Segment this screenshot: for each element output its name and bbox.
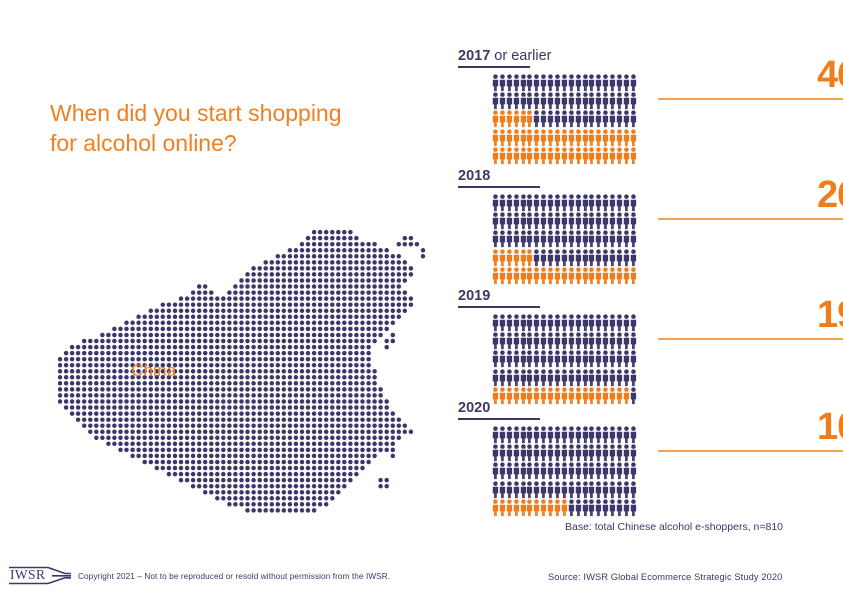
person-icon bbox=[540, 369, 547, 387]
person-icon bbox=[520, 332, 527, 350]
person-icon bbox=[540, 314, 547, 332]
person-icon-cell bbox=[588, 212, 595, 230]
person-icon bbox=[492, 499, 499, 517]
person-icon bbox=[526, 110, 533, 128]
percentage-underline bbox=[658, 218, 843, 220]
person-icon bbox=[540, 481, 547, 499]
person-icon bbox=[499, 426, 506, 444]
person-icon-cell bbox=[582, 462, 589, 480]
person-icon-cell bbox=[602, 481, 609, 499]
person-icon-cell bbox=[582, 110, 589, 128]
person-icon-cell bbox=[547, 267, 554, 285]
person-icon bbox=[499, 462, 506, 480]
person-icon bbox=[595, 194, 602, 212]
person-icon bbox=[588, 314, 595, 332]
person-icon bbox=[568, 230, 575, 248]
person-icon-cell bbox=[630, 350, 637, 368]
person-icon bbox=[595, 230, 602, 248]
person-icon bbox=[561, 92, 568, 110]
person-icon-cell bbox=[602, 267, 609, 285]
person-icon-cell bbox=[520, 426, 527, 444]
person-icon-cell bbox=[513, 92, 520, 110]
person-icon-cell bbox=[582, 212, 589, 230]
svg-text:IWSR: IWSR bbox=[10, 567, 45, 582]
person-icon bbox=[602, 499, 609, 517]
person-icon-cell bbox=[588, 332, 595, 350]
person-icon bbox=[582, 92, 589, 110]
person-icon bbox=[575, 481, 582, 499]
person-icon-cell bbox=[561, 350, 568, 368]
person-icon bbox=[561, 332, 568, 350]
person-icon bbox=[499, 194, 506, 212]
person-icon bbox=[526, 129, 533, 147]
person-icon-cell bbox=[520, 147, 527, 165]
person-icon-cell bbox=[506, 444, 513, 462]
person-icon-cell bbox=[492, 369, 499, 387]
person-icon-cell bbox=[540, 481, 547, 499]
person-icon bbox=[533, 212, 540, 230]
person-icon bbox=[616, 267, 623, 285]
person-icon bbox=[588, 481, 595, 499]
person-icon-cell bbox=[561, 230, 568, 248]
person-icon bbox=[554, 129, 561, 147]
person-icon bbox=[547, 92, 554, 110]
person-icon-cell bbox=[492, 212, 499, 230]
person-icon-cell bbox=[540, 194, 547, 212]
person-icon bbox=[533, 462, 540, 480]
person-icon-cell bbox=[533, 481, 540, 499]
person-icon bbox=[540, 92, 547, 110]
person-icon bbox=[492, 212, 499, 230]
person-icon bbox=[595, 481, 602, 499]
person-icon-cell bbox=[602, 74, 609, 92]
pictogram-grid bbox=[492, 74, 637, 165]
person-icon-cell bbox=[499, 230, 506, 248]
person-icon bbox=[492, 194, 499, 212]
person-icon-cell bbox=[492, 332, 499, 350]
person-icon bbox=[520, 230, 527, 248]
person-icon bbox=[526, 350, 533, 368]
person-icon-cell bbox=[547, 350, 554, 368]
person-icon-cell bbox=[526, 481, 533, 499]
person-icon bbox=[630, 499, 637, 517]
person-icon bbox=[492, 267, 499, 285]
person-icon-cell bbox=[492, 481, 499, 499]
person-icon-cell bbox=[533, 444, 540, 462]
person-icon-cell bbox=[533, 147, 540, 165]
person-icon bbox=[520, 74, 527, 92]
person-icon bbox=[526, 194, 533, 212]
person-icon-cell bbox=[499, 194, 506, 212]
person-icon-cell bbox=[568, 147, 575, 165]
person-icon bbox=[623, 350, 630, 368]
percentage-underline bbox=[658, 338, 843, 340]
person-icon-cell bbox=[513, 481, 520, 499]
person-icon-cell bbox=[609, 110, 616, 128]
person-icon-cell bbox=[533, 194, 540, 212]
person-icon-cell bbox=[520, 481, 527, 499]
person-icon bbox=[561, 230, 568, 248]
person-icon-cell bbox=[540, 129, 547, 147]
person-icon-cell bbox=[575, 426, 582, 444]
person-icon bbox=[568, 314, 575, 332]
person-icon-cell bbox=[561, 369, 568, 387]
person-icon bbox=[540, 332, 547, 350]
person-icon-cell bbox=[575, 332, 582, 350]
person-icon-cell bbox=[513, 426, 520, 444]
person-icon bbox=[623, 314, 630, 332]
person-icon-cell bbox=[492, 462, 499, 480]
person-icon-cell bbox=[609, 147, 616, 165]
pictogram-row bbox=[492, 74, 637, 92]
person-icon-cell bbox=[499, 129, 506, 147]
person-icon bbox=[609, 249, 616, 267]
person-icon bbox=[595, 369, 602, 387]
person-icon bbox=[526, 444, 533, 462]
person-icon bbox=[554, 194, 561, 212]
person-icon-cell bbox=[513, 462, 520, 480]
person-icon bbox=[623, 92, 630, 110]
person-icon-cell bbox=[492, 92, 499, 110]
person-icon bbox=[554, 92, 561, 110]
person-icon-cell bbox=[616, 444, 623, 462]
person-icon-cell bbox=[520, 74, 527, 92]
person-icon bbox=[533, 74, 540, 92]
person-icon-cell bbox=[588, 444, 595, 462]
person-icon-cell bbox=[582, 332, 589, 350]
person-icon-cell bbox=[520, 332, 527, 350]
person-icon-cell bbox=[547, 110, 554, 128]
person-icon-cell bbox=[588, 129, 595, 147]
person-icon-cell bbox=[540, 147, 547, 165]
person-icon bbox=[568, 147, 575, 165]
person-icon bbox=[616, 129, 623, 147]
person-icon bbox=[609, 369, 616, 387]
person-icon-cell bbox=[623, 462, 630, 480]
person-icon bbox=[623, 230, 630, 248]
person-icon-cell bbox=[547, 194, 554, 212]
person-icon bbox=[602, 212, 609, 230]
person-icon bbox=[623, 110, 630, 128]
person-icon bbox=[506, 350, 513, 368]
person-icon bbox=[561, 129, 568, 147]
person-icon bbox=[575, 230, 582, 248]
person-icon bbox=[575, 194, 582, 212]
person-icon bbox=[595, 147, 602, 165]
person-icon bbox=[616, 194, 623, 212]
year-value: 2017 bbox=[458, 48, 490, 64]
person-icon bbox=[506, 481, 513, 499]
person-icon bbox=[540, 267, 547, 285]
person-icon bbox=[499, 74, 506, 92]
person-icon bbox=[506, 74, 513, 92]
pictogram-row bbox=[492, 481, 637, 499]
person-icon bbox=[561, 249, 568, 267]
iwsr-logo-mark: IWSR bbox=[8, 562, 72, 590]
person-icon-cell bbox=[533, 74, 540, 92]
person-icon-cell bbox=[540, 314, 547, 332]
person-icon-cell bbox=[513, 350, 520, 368]
person-icon-cell bbox=[630, 92, 637, 110]
person-icon bbox=[588, 267, 595, 285]
person-icon bbox=[595, 462, 602, 480]
person-icon bbox=[540, 147, 547, 165]
person-icon-cell bbox=[582, 314, 589, 332]
year-underline bbox=[458, 66, 530, 68]
person-icon-cell bbox=[554, 129, 561, 147]
person-icon bbox=[588, 147, 595, 165]
person-icon-cell bbox=[554, 267, 561, 285]
person-icon bbox=[588, 129, 595, 147]
person-icon-cell bbox=[616, 249, 623, 267]
person-icon bbox=[554, 332, 561, 350]
person-icon bbox=[575, 444, 582, 462]
person-icon-cell bbox=[616, 267, 623, 285]
person-icon bbox=[561, 267, 568, 285]
person-icon-cell bbox=[547, 426, 554, 444]
person-icon-cell bbox=[609, 249, 616, 267]
person-icon bbox=[582, 481, 589, 499]
person-icon-cell bbox=[609, 129, 616, 147]
person-icon bbox=[595, 444, 602, 462]
person-icon-cell bbox=[547, 314, 554, 332]
person-icon-cell bbox=[526, 369, 533, 387]
person-icon bbox=[609, 481, 616, 499]
person-icon bbox=[499, 332, 506, 350]
person-icon-cell bbox=[616, 212, 623, 230]
person-icon-cell bbox=[609, 499, 616, 517]
person-icon-cell bbox=[561, 462, 568, 480]
person-icon bbox=[616, 426, 623, 444]
person-icon bbox=[499, 110, 506, 128]
pictogram-row bbox=[492, 426, 637, 444]
person-icon bbox=[506, 147, 513, 165]
person-icon bbox=[623, 267, 630, 285]
person-icon bbox=[540, 462, 547, 480]
person-icon bbox=[499, 92, 506, 110]
person-icon bbox=[630, 147, 637, 165]
person-icon-cell bbox=[547, 462, 554, 480]
person-icon bbox=[582, 129, 589, 147]
person-icon bbox=[582, 314, 589, 332]
person-icon bbox=[492, 481, 499, 499]
person-icon bbox=[561, 462, 568, 480]
person-icon-cell bbox=[609, 444, 616, 462]
person-icon-cell bbox=[575, 147, 582, 165]
person-icon bbox=[554, 369, 561, 387]
person-icon-cell bbox=[582, 499, 589, 517]
person-icon-cell bbox=[623, 230, 630, 248]
person-icon bbox=[582, 332, 589, 350]
person-icon-cell bbox=[575, 129, 582, 147]
person-icon-cell bbox=[492, 350, 499, 368]
person-icon bbox=[547, 129, 554, 147]
person-icon bbox=[602, 267, 609, 285]
person-icon-cell bbox=[547, 481, 554, 499]
person-icon-cell bbox=[540, 369, 547, 387]
person-icon-cell bbox=[582, 350, 589, 368]
person-icon bbox=[616, 147, 623, 165]
person-icon-cell bbox=[540, 426, 547, 444]
person-icon-cell bbox=[582, 147, 589, 165]
person-icon bbox=[575, 147, 582, 165]
person-icon bbox=[630, 369, 637, 387]
person-icon-cell bbox=[533, 332, 540, 350]
person-icon-cell bbox=[595, 110, 602, 128]
person-icon-cell bbox=[492, 249, 499, 267]
person-icon-cell bbox=[602, 314, 609, 332]
iwsr-logo: IWSR bbox=[8, 562, 72, 590]
person-icon bbox=[575, 499, 582, 517]
person-icon bbox=[623, 462, 630, 480]
person-icon-cell bbox=[492, 74, 499, 92]
person-icon-cell bbox=[602, 444, 609, 462]
person-icon-cell bbox=[554, 350, 561, 368]
person-icon-cell bbox=[561, 332, 568, 350]
person-icon bbox=[630, 426, 637, 444]
person-icon-cell bbox=[630, 444, 637, 462]
person-icon-cell bbox=[533, 249, 540, 267]
person-icon-cell bbox=[568, 92, 575, 110]
person-icon-cell bbox=[575, 212, 582, 230]
person-icon bbox=[588, 110, 595, 128]
person-icon-cell bbox=[533, 110, 540, 128]
waffle-block-2017: 2017 or earlier bbox=[458, 48, 788, 67]
person-icon-cell bbox=[623, 74, 630, 92]
person-icon-cell bbox=[602, 369, 609, 387]
page-title: When did you start shopping for alcohol … bbox=[50, 98, 350, 158]
person-icon-cell bbox=[540, 212, 547, 230]
person-icon-cell bbox=[568, 426, 575, 444]
person-icon bbox=[526, 314, 533, 332]
person-icon-cell bbox=[630, 481, 637, 499]
person-icon bbox=[513, 499, 520, 517]
person-icon bbox=[609, 444, 616, 462]
person-icon bbox=[492, 369, 499, 387]
person-icon bbox=[499, 267, 506, 285]
person-icon bbox=[506, 444, 513, 462]
person-icon-cell bbox=[575, 74, 582, 92]
person-icon-cell bbox=[582, 194, 589, 212]
person-icon-cell bbox=[575, 314, 582, 332]
person-icon bbox=[499, 444, 506, 462]
person-icon bbox=[588, 332, 595, 350]
person-icon bbox=[547, 369, 554, 387]
person-icon-cell bbox=[561, 267, 568, 285]
person-icon bbox=[582, 249, 589, 267]
person-icon bbox=[630, 74, 637, 92]
percentage-value: 46% bbox=[710, 54, 843, 96]
person-icon-cell bbox=[582, 74, 589, 92]
person-icon-cell bbox=[616, 332, 623, 350]
person-icon bbox=[533, 92, 540, 110]
person-icon bbox=[588, 369, 595, 387]
pictogram-row bbox=[492, 212, 637, 230]
person-icon-cell bbox=[540, 110, 547, 128]
person-icon bbox=[540, 350, 547, 368]
pictogram-row bbox=[492, 332, 637, 350]
person-icon bbox=[540, 74, 547, 92]
person-icon bbox=[492, 314, 499, 332]
person-icon-cell bbox=[499, 332, 506, 350]
person-icon-cell bbox=[568, 369, 575, 387]
person-icon bbox=[602, 481, 609, 499]
person-icon bbox=[554, 314, 561, 332]
person-icon-cell bbox=[499, 267, 506, 285]
person-icon bbox=[540, 212, 547, 230]
percentage-value: 26% bbox=[710, 174, 843, 216]
person-icon bbox=[588, 92, 595, 110]
person-icon bbox=[492, 249, 499, 267]
person-icon-cell bbox=[526, 314, 533, 332]
person-icon bbox=[526, 92, 533, 110]
person-icon-cell bbox=[609, 369, 616, 387]
person-icon bbox=[609, 74, 616, 92]
person-icon-cell bbox=[526, 350, 533, 368]
person-icon-cell bbox=[513, 129, 520, 147]
year-suffix: or earlier bbox=[490, 48, 551, 64]
person-icon-cell bbox=[575, 110, 582, 128]
person-icon bbox=[582, 499, 589, 517]
person-icon-cell bbox=[499, 249, 506, 267]
person-icon-cell bbox=[609, 481, 616, 499]
person-icon bbox=[547, 230, 554, 248]
person-icon bbox=[540, 426, 547, 444]
person-icon bbox=[595, 92, 602, 110]
person-icon-cell bbox=[554, 249, 561, 267]
person-icon-cell bbox=[533, 212, 540, 230]
person-icon bbox=[630, 194, 637, 212]
person-icon bbox=[506, 499, 513, 517]
person-icon bbox=[575, 314, 582, 332]
person-icon bbox=[616, 110, 623, 128]
person-icon-cell bbox=[595, 212, 602, 230]
person-icon bbox=[561, 444, 568, 462]
person-icon bbox=[575, 332, 582, 350]
person-icon-cell bbox=[630, 230, 637, 248]
person-icon bbox=[568, 444, 575, 462]
person-icon-cell bbox=[623, 92, 630, 110]
person-icon bbox=[595, 110, 602, 128]
person-icon bbox=[623, 332, 630, 350]
person-icon bbox=[630, 314, 637, 332]
percentage-value: 19% bbox=[710, 294, 843, 336]
person-icon-cell bbox=[526, 267, 533, 285]
person-icon bbox=[582, 369, 589, 387]
person-icon bbox=[506, 194, 513, 212]
person-icon-cell bbox=[595, 267, 602, 285]
person-icon-cell bbox=[513, 314, 520, 332]
person-icon bbox=[575, 212, 582, 230]
person-icon bbox=[623, 249, 630, 267]
person-icon-cell bbox=[623, 350, 630, 368]
person-icon-cell bbox=[526, 249, 533, 267]
person-icon bbox=[588, 444, 595, 462]
person-icon-cell bbox=[609, 230, 616, 248]
person-icon-cell bbox=[520, 267, 527, 285]
person-icon bbox=[513, 462, 520, 480]
person-icon bbox=[540, 194, 547, 212]
person-icon bbox=[520, 444, 527, 462]
person-icon bbox=[630, 481, 637, 499]
person-icon-cell bbox=[492, 314, 499, 332]
person-icon bbox=[533, 314, 540, 332]
person-icon bbox=[623, 499, 630, 517]
person-icon-cell bbox=[520, 350, 527, 368]
person-icon bbox=[492, 92, 499, 110]
person-icon-cell bbox=[602, 92, 609, 110]
person-icon bbox=[506, 426, 513, 444]
